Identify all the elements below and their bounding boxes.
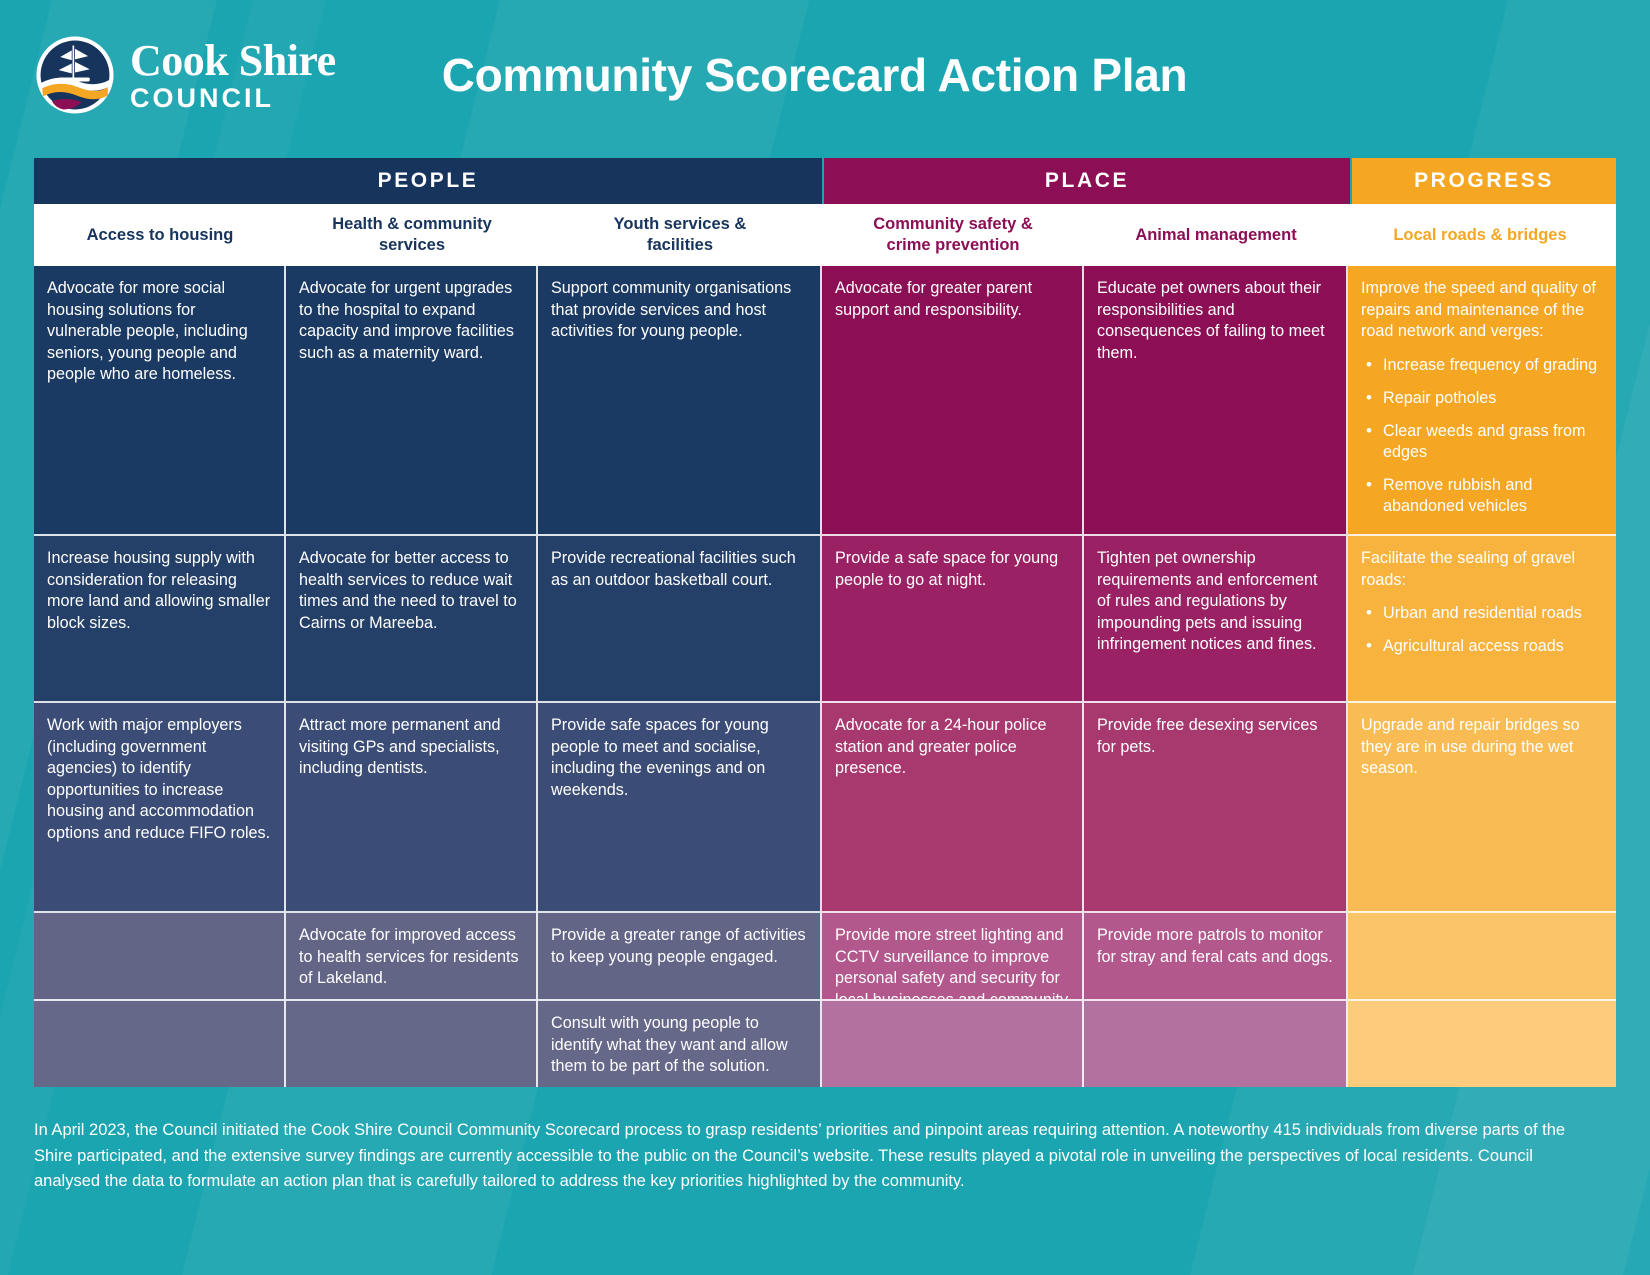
- column-header-animal-management: Animal management: [1084, 204, 1348, 266]
- table-cell: Advocate for better access to health ser…: [286, 536, 538, 703]
- page-title: Community Scorecard Action Plan: [442, 48, 1188, 102]
- footer-note: In April 2023, the Council initiated the…: [34, 1118, 1602, 1195]
- column-header-row: Access to housing Health & community ser…: [34, 204, 1616, 266]
- column-youth-services-facilities: Support community organisations that pro…: [538, 266, 822, 1087]
- page-header: Cook Shire COUNCIL Community Scorecard A…: [0, 0, 1650, 150]
- table-cell: Provide free desexing services for pets.: [1084, 703, 1348, 913]
- band-place: PLACE: [824, 158, 1350, 204]
- table-cell: [1348, 1001, 1616, 1087]
- table-cell: Facilitate the sealing of gravel roads: …: [1348, 536, 1616, 703]
- column-health-community-services: Advocate for urgent upgrades to the hosp…: [286, 266, 538, 1087]
- column-local-roads-bridges: Improve the speed and quality of repairs…: [1348, 266, 1616, 1087]
- column-header-local-roads-bridges: Local roads & bridges: [1348, 204, 1612, 266]
- cell-intro: Improve the speed and quality of repairs…: [1361, 278, 1604, 343]
- logo-subtitle: COUNCIL: [130, 85, 336, 112]
- table-cell: [822, 1001, 1084, 1087]
- table-cell: Provide a greater range of activities to…: [538, 913, 822, 1001]
- table-cell: Improve the speed and quality of repairs…: [1348, 266, 1616, 536]
- column-community-safety-crime-prevention: Advocate for greater parent support and …: [822, 266, 1084, 1087]
- column-header-health-community-services: Health & community services: [286, 204, 538, 266]
- table-cell: [1084, 1001, 1348, 1087]
- column-header-access-to-housing: Access to housing: [34, 204, 286, 266]
- table-cell: Advocate for a 24-hour police station an…: [822, 703, 1084, 913]
- table-cell: Increase housing supply with considerati…: [34, 536, 286, 703]
- scorecard-table: PEOPLE PLACE PROGRESS Access to housing …: [34, 158, 1616, 1087]
- list-item: Urban and residential roads: [1361, 603, 1604, 624]
- table-cell: Advocate for urgent upgrades to the hosp…: [286, 266, 538, 536]
- list-item: Remove rubbish and abandoned vehicles: [1361, 475, 1604, 517]
- table-cell: Provide more street lighting and CCTV su…: [822, 913, 1084, 1001]
- cell-bullet-list: Increase frequency of grading Repair pot…: [1361, 355, 1604, 517]
- table-cell: Attract more permanent and visiting GPs …: [286, 703, 538, 913]
- band-people: PEOPLE: [34, 158, 822, 204]
- table-cell: Support community organisations that pro…: [538, 266, 822, 536]
- scorecard-body: Advocate for more social housing solutio…: [34, 266, 1616, 1087]
- column-header-youth-services-facilities: Youth services & facilities: [538, 204, 822, 266]
- table-cell: Advocate for improved access to health s…: [286, 913, 538, 1001]
- logo: Cook Shire COUNCIL: [34, 34, 336, 116]
- table-cell: Educate pet owners about their responsib…: [1084, 266, 1348, 536]
- table-cell: Consult with young people to identify wh…: [538, 1001, 822, 1087]
- table-cell: [286, 1001, 538, 1087]
- cell-bullet-list: Urban and residential roads Agricultural…: [1361, 603, 1604, 657]
- cell-intro: Facilitate the sealing of gravel roads:: [1361, 548, 1604, 591]
- list-item: Agricultural access roads: [1361, 636, 1604, 657]
- table-cell: Advocate for more social housing solutio…: [34, 266, 286, 536]
- category-band-row: PEOPLE PLACE PROGRESS: [34, 158, 1616, 204]
- table-cell: [1348, 913, 1616, 1001]
- table-cell: Work with major employers (including gov…: [34, 703, 286, 913]
- band-progress: PROGRESS: [1352, 158, 1616, 204]
- column-animal-management: Educate pet owners about their responsib…: [1084, 266, 1348, 1087]
- table-cell: Upgrade and repair bridges so they are i…: [1348, 703, 1616, 913]
- table-cell: Tighten pet ownership requirements and e…: [1084, 536, 1348, 703]
- list-item: Increase frequency of grading: [1361, 355, 1604, 376]
- table-cell: Provide recreational facilities such as …: [538, 536, 822, 703]
- column-access-to-housing: Advocate for more social housing solutio…: [34, 266, 286, 1087]
- list-item: Repair potholes: [1361, 388, 1604, 409]
- table-cell: [34, 1001, 286, 1087]
- table-cell: Provide a safe space for young people to…: [822, 536, 1084, 703]
- list-item: Clear weeds and grass from edges: [1361, 421, 1604, 463]
- table-cell: Advocate for greater parent support and …: [822, 266, 1084, 536]
- table-cell: Provide safe spaces for young people to …: [538, 703, 822, 913]
- sailing-ship-roundel-logo-icon: [34, 34, 116, 116]
- table-cell: Provide more patrols to monitor for stra…: [1084, 913, 1348, 1001]
- page: Cook Shire COUNCIL Community Scorecard A…: [0, 0, 1650, 1275]
- table-cell: [34, 913, 286, 1001]
- logo-title: Cook Shire: [130, 39, 336, 83]
- column-header-community-safety-crime-prevention: Community safety & crime prevention: [822, 204, 1084, 266]
